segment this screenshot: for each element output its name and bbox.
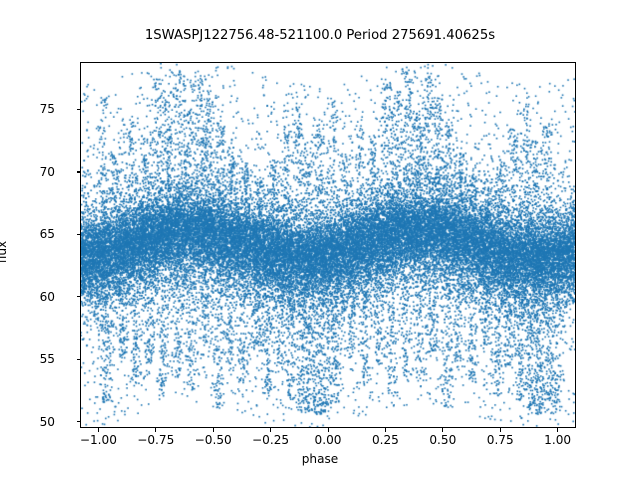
x-tick-mark — [98, 428, 99, 432]
x-tick-mark — [270, 428, 271, 432]
chart-title: 1SWASPJ122756.48-521100.0 Period 275691.… — [0, 28, 640, 43]
y-tick-label: 65 — [11, 227, 55, 241]
x-tick-mark — [385, 428, 386, 432]
x-tick-mark — [213, 428, 214, 432]
x-tick-mark — [500, 428, 501, 432]
y-axis-label: flux — [0, 241, 9, 263]
y-tick-label: 60 — [11, 290, 55, 304]
x-tick-label: 1.00 — [523, 433, 593, 447]
y-tick-label: 70 — [11, 165, 55, 179]
x-tick-mark — [442, 428, 443, 432]
matplotlib-figure: 1SWASPJ122756.48-521100.0 Period 275691.… — [0, 0, 640, 480]
x-tick-mark — [328, 428, 329, 432]
y-tick-label: 75 — [11, 102, 55, 116]
x-tick-mark — [155, 428, 156, 432]
y-tick-label: 50 — [11, 415, 55, 429]
plot-area — [80, 62, 576, 428]
x-tick-mark — [557, 428, 558, 432]
y-tick-label: 55 — [11, 352, 55, 366]
scatter-points-canvas — [81, 63, 575, 427]
x-axis-label: phase — [0, 452, 640, 466]
